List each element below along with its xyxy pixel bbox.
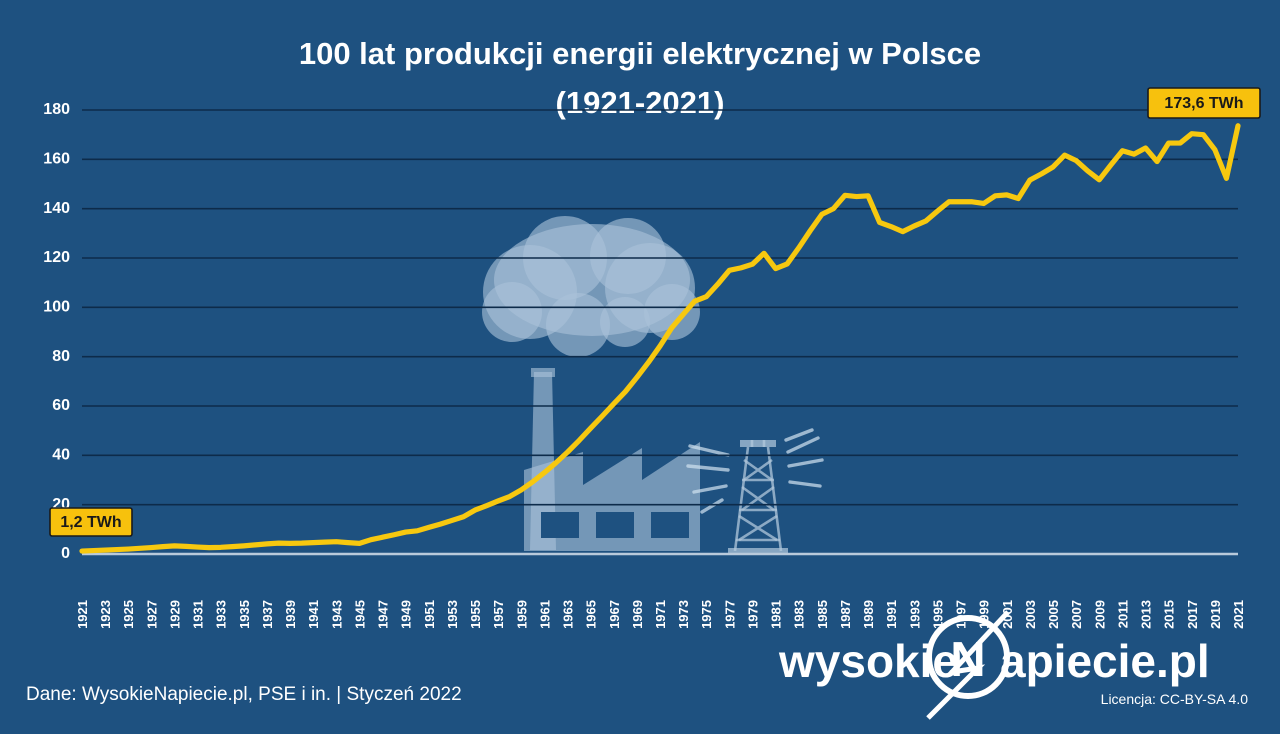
x-axis-tick-label: 2007: [1069, 600, 1084, 629]
x-axis-tick-label: 2017: [1185, 600, 1200, 629]
x-axis-tick-label: 1947: [376, 600, 391, 629]
x-axis-tick-label: 1983: [792, 600, 807, 629]
x-axis-tick-label: 1923: [98, 600, 113, 629]
y-axis-tick-labels: 020406080100120140160180: [43, 101, 70, 562]
x-axis-tick-label: 1981: [769, 600, 784, 629]
x-axis-tick-label: 1943: [329, 600, 344, 629]
y-axis-tick-label: 80: [52, 348, 70, 365]
x-axis-tick-label: 2015: [1162, 600, 1177, 629]
x-axis-tick-label: 1975: [699, 600, 714, 629]
x-axis-tick-label: 1989: [861, 600, 876, 629]
x-axis-tick-label: 1941: [306, 600, 321, 629]
x-axis-tick-label: 1957: [491, 600, 506, 629]
x-axis-tick-label: 1935: [237, 600, 252, 629]
x-axis-tick-label: 1969: [630, 600, 645, 629]
x-axis-tick-label: 1951: [422, 600, 437, 629]
x-axis-tick-label: 2013: [1139, 600, 1154, 629]
transmission-tower-icon: [688, 430, 822, 554]
chart-container: 100 lat produkcji energii elektrycznej w…: [0, 0, 1280, 734]
x-axis-tick-label: 1987: [838, 600, 853, 629]
x-axis-tick-label: 1945: [352, 600, 367, 629]
x-axis-tick-label: 2003: [1023, 600, 1038, 629]
first-value-badge-label: 1,2 TWh: [60, 514, 121, 531]
first-value-badge: 1,2 TWh: [50, 508, 132, 536]
y-axis-tick-label: 120: [43, 249, 70, 266]
x-axis-tick-labels: 1921192319251927192919311933193519371939…: [75, 600, 1246, 629]
x-axis-tick-label: 1997: [954, 600, 969, 629]
x-axis-tick-label: 1959: [514, 600, 529, 629]
energy-production-line-chart: 100 lat produkcji energii elektrycznej w…: [0, 0, 1280, 734]
x-axis-tick-label: 1967: [607, 600, 622, 629]
y-axis-tick-label: 0: [61, 545, 70, 562]
x-axis-tick-label: 1977: [722, 600, 737, 629]
x-axis-tick-label: 1949: [399, 600, 414, 629]
source-note: Dane: WysokieNapiecie.pl, PSE i in. | St…: [26, 684, 462, 705]
x-axis-tick-label: 1991: [884, 600, 899, 629]
x-axis-tick-label: 2021: [1231, 600, 1246, 629]
x-axis-tick-label: 1963: [561, 600, 576, 629]
x-axis-tick-label: 1955: [468, 600, 483, 629]
x-axis-tick-label: 1927: [144, 600, 159, 629]
last-value-badge-label: 173,6 TWh: [1164, 95, 1243, 112]
chart-subtitle: (1921-2021): [556, 85, 725, 120]
x-axis-tick-label: 1973: [676, 600, 691, 629]
x-axis-tick-label: 1937: [260, 600, 275, 629]
x-axis-tick-label: 1965: [584, 600, 599, 629]
x-axis-tick-label: 1985: [815, 600, 830, 629]
x-axis-tick-label: 1979: [745, 600, 760, 629]
chart-title: 100 lat produkcji energii elektrycznej w…: [299, 36, 981, 71]
x-axis-tick-label: 1921: [75, 600, 90, 629]
x-axis-tick-label: 1939: [283, 600, 298, 629]
x-axis-tick-label: 1961: [537, 600, 552, 629]
x-axis-tick-label: 1953: [445, 600, 460, 629]
last-value-badge: 173,6 TWh: [1148, 88, 1260, 118]
license-note: Licencja: CC-BY-SA 4.0: [1101, 691, 1249, 707]
logo-text-right: apiecie.pl: [1000, 635, 1210, 687]
y-axis-tick-label: 40: [52, 447, 70, 464]
logo-mark-letter: N: [950, 633, 985, 687]
y-axis-tick-label: 100: [43, 299, 70, 316]
y-axis-tick-label: 140: [43, 200, 70, 217]
y-axis-gridlines: [82, 110, 1238, 505]
y-axis-tick-label: 60: [52, 397, 70, 414]
x-axis-tick-label: 1933: [214, 600, 229, 629]
y-axis-tick-label: 160: [43, 151, 70, 168]
x-axis-tick-label: 1993: [907, 600, 922, 629]
x-axis-tick-label: 2005: [1046, 600, 1061, 629]
x-axis-tick-label: 1971: [653, 600, 668, 629]
x-axis-tick-label: 2019: [1208, 600, 1223, 629]
x-axis-tick-label: 1925: [121, 600, 136, 629]
x-axis-tick-label: 1929: [167, 600, 182, 629]
x-axis-tick-label: 2011: [1115, 600, 1130, 628]
factory-icon: [524, 368, 700, 551]
x-axis-tick-label: 2009: [1092, 600, 1107, 629]
y-axis-tick-label: 180: [43, 101, 70, 118]
x-axis-tick-label: 1931: [191, 600, 206, 629]
